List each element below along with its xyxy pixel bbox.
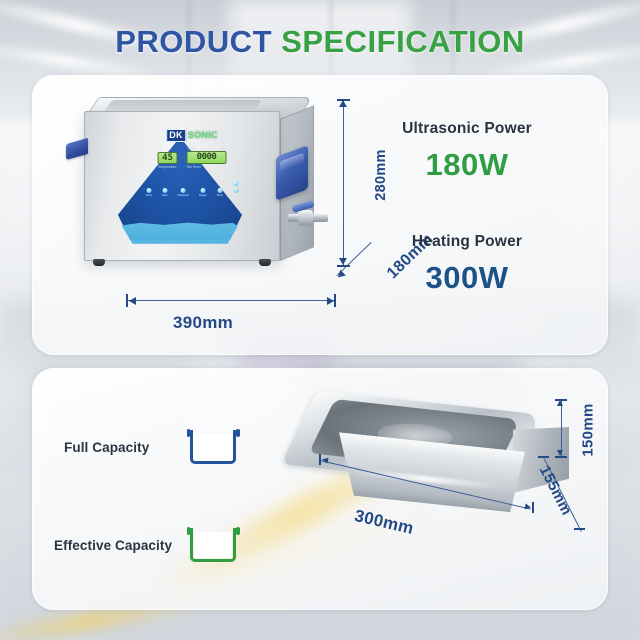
device-button-label: Timer	[216, 194, 223, 197]
spec-heating-power-value: 300W	[362, 260, 572, 296]
brand-logo-sonic: SONIC	[188, 131, 218, 140]
device-button-timer[interactable]: Timer	[216, 188, 223, 197]
dimension-arrow	[557, 450, 563, 456]
effective-capacity-value: 5L	[194, 532, 232, 558]
device-button-indicator	[181, 188, 186, 193]
brand-logo-dk: DK	[166, 129, 186, 142]
device-button-heat[interactable]: Heat	[162, 188, 167, 197]
dimension-arrow	[327, 297, 334, 305]
device-button-indicator	[233, 188, 238, 193]
spec-heating-power: Heating Power 300W	[362, 233, 572, 296]
timer-caption: Set Timer	[187, 165, 202, 169]
capacity-row-effective: Effective Capacity 5L	[54, 528, 236, 562]
beaker-ear	[236, 527, 240, 535]
device-button-label: Temp	[146, 194, 152, 197]
temperature-display-group: °C 45 Temperature	[158, 152, 178, 164]
dimension-line-vertical	[343, 99, 344, 267]
dimension-cap	[532, 502, 534, 513]
page-title-product: PRODUCT	[115, 24, 272, 59]
dimension-arrow	[557, 400, 563, 406]
capacity-row-full: Full Capacity 6L	[64, 430, 236, 464]
device-foot	[259, 259, 271, 266]
beaker-ear	[236, 429, 240, 437]
device-button-temp[interactable]: Temp	[146, 188, 152, 197]
full-capacity-value: 6L	[194, 434, 232, 460]
device-foot	[93, 259, 105, 266]
dimension-tank-height-label: 150mm	[580, 403, 597, 456]
spec-ultrasonic-power: Ultrasonic Power 180W	[362, 120, 572, 183]
timer-display: 0000	[187, 151, 227, 164]
device-button-indicator	[146, 188, 151, 193]
temperature-caption: Temperature	[158, 165, 177, 169]
dimension-arrow	[339, 258, 347, 265]
device-button-start[interactable]: Start	[233, 181, 238, 197]
effective-capacity-label: Effective Capacity	[54, 538, 174, 553]
specification-card-top: DK SONIC °C 45 Temperature Time min 0000…	[32, 75, 608, 355]
dimension-arrow	[129, 297, 136, 305]
dimension-cap	[555, 456, 567, 458]
page-title: PRODUCT SPECIFICATION	[0, 24, 640, 60]
full-capacity-label: Full Capacity	[64, 440, 174, 455]
dimension-cap	[126, 294, 128, 307]
device-button-ultrasonic[interactable]: Ultrasonic	[177, 188, 189, 197]
temperature-display: 45	[158, 152, 178, 164]
device-button-degas[interactable]: Degas	[199, 188, 207, 197]
device-button-indicator	[200, 188, 205, 193]
valve-body	[298, 210, 313, 226]
dimension-line-horizontal	[127, 300, 335, 301]
dimension-width-label: 390mm	[173, 313, 233, 333]
spec-ultrasonic-power-label: Ultrasonic Power	[362, 120, 572, 138]
device-button-label: Heat	[162, 194, 167, 197]
device-button-indicator	[162, 188, 167, 193]
device-button-indicator	[233, 181, 238, 186]
spec-heating-power-label: Heating Power	[362, 233, 572, 251]
timer-min-label: min	[220, 147, 225, 151]
brand-logo: DK SONIC	[166, 129, 218, 142]
device-panel-wave-graphic	[114, 221, 246, 245]
full-capacity-beaker-icon: 6L	[190, 430, 236, 464]
spec-ultrasonic-power-value: 180W	[362, 147, 572, 183]
effective-capacity-beaker-icon: 5L	[190, 528, 236, 562]
device-button-label: Degas	[199, 194, 207, 197]
timer-display-group: Time min 0000 Set Timer	[187, 151, 227, 164]
device-button-label: Start	[233, 194, 238, 197]
dimension-arrow	[339, 100, 347, 107]
ultrasonic-cleaner-image: DK SONIC °C 45 Temperature Time min 0000…	[62, 89, 322, 304]
dimension-arrow	[335, 270, 346, 281]
dimension-cap	[574, 528, 585, 530]
timer-unit-label: Time	[188, 147, 195, 151]
specification-card-bottom: Full Capacity 6L Effective Capacity 5L 3…	[32, 368, 608, 610]
device-display-row: °C 45 Temperature Time min 0000 Set Time…	[158, 151, 227, 164]
dimension-cap	[334, 294, 336, 307]
device-drain-valve	[288, 207, 332, 227]
page-title-specification: SPECIFICATION	[281, 24, 525, 59]
device-button-label: Ultrasonic	[177, 194, 189, 197]
dimension-cap	[538, 456, 549, 458]
device-button-indicator	[217, 188, 222, 193]
device-button-row: Temp Heat Ultrasonic Degas Timer Sta	[146, 181, 239, 197]
temperature-unit-label: °C	[159, 148, 163, 152]
dimension-cap	[319, 454, 321, 465]
